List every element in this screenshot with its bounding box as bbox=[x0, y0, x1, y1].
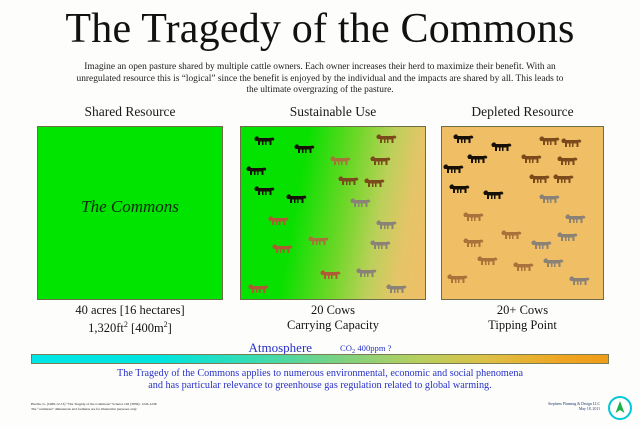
cow-icon bbox=[560, 137, 582, 149]
column-header-shared-resource: Shared Resource bbox=[37, 104, 223, 120]
credit-line-2: May 18, 2011 bbox=[548, 407, 600, 412]
closing-line-2: and has particular relevance to greenhou… bbox=[60, 380, 580, 392]
cow-icon bbox=[490, 141, 512, 153]
cow-icon bbox=[476, 255, 498, 267]
cow-icon bbox=[552, 173, 574, 185]
cow-icon bbox=[542, 257, 564, 269]
cow-icon bbox=[363, 177, 385, 189]
column-header-sustainable-use: Sustainable Use bbox=[240, 104, 426, 120]
cow-icon bbox=[520, 153, 542, 165]
cow-icon bbox=[369, 155, 391, 167]
page-title: The Tragedy of the Commons bbox=[0, 6, 640, 52]
cow-icon bbox=[538, 135, 560, 147]
cow-icon bbox=[385, 283, 407, 295]
cow-icon bbox=[568, 275, 590, 287]
caption-line-1: 40 acres [16 hectares] bbox=[20, 303, 240, 318]
cow-icon bbox=[538, 193, 560, 205]
cow-icon bbox=[556, 155, 578, 167]
cow-icon bbox=[375, 133, 397, 145]
designer-logo-icon bbox=[608, 396, 632, 420]
caption-line-2: 1,320ft2 [400m2] bbox=[20, 318, 240, 336]
cow-icon bbox=[452, 133, 474, 145]
cow-icon bbox=[285, 193, 307, 205]
cow-icon bbox=[500, 229, 522, 241]
cow-icon bbox=[253, 185, 275, 197]
caption-depleted-resource: 20+ Cows Tipping Point bbox=[441, 303, 604, 332]
panel-depleted-resource bbox=[441, 126, 604, 300]
cow-icon bbox=[442, 163, 464, 175]
cow-icon bbox=[329, 155, 351, 167]
commons-label: The Commons bbox=[38, 197, 222, 217]
cow-icon bbox=[564, 213, 586, 225]
caption-line-1: 20+ Cows bbox=[441, 303, 604, 318]
cow-icon bbox=[319, 269, 341, 281]
citation-line-2: The “commons” dimensions and formulas ar… bbox=[31, 407, 157, 412]
cow-icon bbox=[271, 243, 293, 255]
cow-icon bbox=[528, 173, 550, 185]
cow-icon bbox=[355, 267, 377, 279]
caption-line-2: Tipping Point bbox=[441, 318, 604, 333]
cow-icon bbox=[337, 175, 359, 187]
cow-icon bbox=[253, 135, 275, 147]
caption-sustainable-use: 20 Cows Carrying Capacity bbox=[240, 303, 426, 332]
cow-icon bbox=[512, 261, 534, 273]
panel-shared-resource: The Commons bbox=[37, 126, 223, 300]
cow-icon bbox=[245, 165, 267, 177]
citation-fine-print: Hardin, G. (1968-12-13) “The Tragedy of … bbox=[31, 402, 157, 411]
atmosphere-gradient-bar bbox=[31, 354, 609, 364]
cow-icon bbox=[247, 283, 269, 295]
cow-icon bbox=[293, 143, 315, 155]
cow-icon bbox=[466, 153, 488, 165]
intro-paragraph: Imagine an open pasture shared by multip… bbox=[72, 62, 568, 97]
cow-icon bbox=[556, 231, 578, 243]
column-header-depleted-resource: Depleted Resource bbox=[441, 104, 604, 120]
cow-icon bbox=[307, 235, 329, 247]
cow-icon bbox=[462, 211, 484, 223]
infographic-poster: The Tragedy of the Commons Imagine an op… bbox=[0, 0, 640, 427]
cow-icon bbox=[462, 237, 484, 249]
cow-icon bbox=[267, 215, 289, 227]
cow-icon bbox=[482, 189, 504, 201]
cow-icon bbox=[446, 273, 468, 285]
cow-icon bbox=[369, 239, 391, 251]
co2-reading: CO2 400ppm ? bbox=[340, 343, 391, 353]
cow-icon bbox=[349, 197, 371, 209]
credit-fine-print: Stephens Planning & Design LLC May 18, 2… bbox=[548, 402, 600, 412]
caption-shared-resource: 40 acres [16 hectares] 1,320ft2 [400m2] bbox=[20, 303, 240, 335]
citation-line-1: Hardin, G. (1968-12-13) “The Tragedy of … bbox=[31, 402, 157, 407]
cow-icon bbox=[375, 219, 397, 231]
caption-line-2: Carrying Capacity bbox=[240, 318, 426, 333]
cow-icon bbox=[530, 239, 552, 251]
cow-icon bbox=[448, 183, 470, 195]
panel-sustainable-use bbox=[240, 126, 426, 300]
caption-line-1: 20 Cows bbox=[240, 303, 426, 318]
closing-statement: The Tragedy of the Commons applies to nu… bbox=[60, 368, 580, 393]
closing-line-1: The Tragedy of the Commons applies to nu… bbox=[60, 368, 580, 380]
